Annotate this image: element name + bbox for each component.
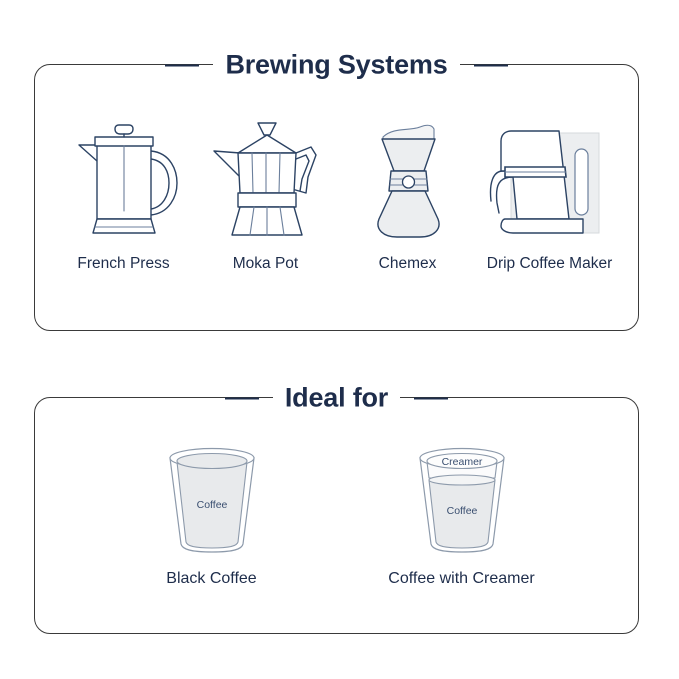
french-press-label: French Press [77,255,169,272]
title-dash-left [165,64,199,66]
coffee-creamer-glass-icon: Creamer Coffee [410,440,514,554]
moka-pot-icon [210,115,322,241]
black-coffee-label: Black Coffee [166,570,256,588]
moka-pot-icon-box [210,109,322,241]
title-dash-left [225,397,259,399]
ideal-for-title-text: Ideal for [273,385,400,412]
brewing-systems-title-text: Brewing Systems [213,52,459,79]
creamer-layer-label: Creamer [441,456,482,468]
coffee-with-creamer-label: Coffee with Creamer [388,570,534,588]
french-press-icon-box [69,109,179,241]
item-drip-coffee-maker[interactable]: Drip Coffee Maker [479,109,621,272]
item-coffee-with-creamer[interactable]: Creamer Coffee Coffee with Creamer [372,432,552,588]
chemex-label: Chemex [379,255,437,272]
ideal-for-card: Ideal for Coffee [34,397,639,634]
coffee-with-creamer-icon-box: Creamer Coffee [410,432,514,554]
drip-coffee-maker-label: Drip Coffee Maker [487,255,612,272]
chemex-icon-box [358,109,458,241]
item-french-press[interactable]: French Press [53,109,195,272]
brewing-systems-items: French Press [35,109,638,272]
item-chemex[interactable]: Chemex [337,109,479,272]
coffee-layer-label: Coffee [446,505,477,517]
item-moka-pot[interactable]: Moka Pot [195,109,337,272]
item-black-coffee[interactable]: Coffee Black Coffee [122,432,302,588]
ideal-for-title: Ideal for [35,385,638,412]
drip-coffee-maker-icon [487,115,613,241]
chemex-icon [358,115,458,241]
title-dash-right [414,397,448,399]
title-dash-right [474,64,508,66]
infographic-page: Brewing Systems [0,0,679,679]
ideal-for-items: Coffee Black Coffee [35,432,638,588]
drip-coffee-maker-icon-box [487,109,613,241]
brewing-systems-title: Brewing Systems [35,52,638,79]
moka-pot-label: Moka Pot [233,255,298,272]
black-coffee-icon-box: Coffee [160,432,264,554]
coffee-layer-label: Coffee [196,499,227,511]
coffee-glass-icon: Coffee [160,440,264,554]
brewing-systems-card: Brewing Systems [34,64,639,331]
french-press-icon [69,115,179,241]
